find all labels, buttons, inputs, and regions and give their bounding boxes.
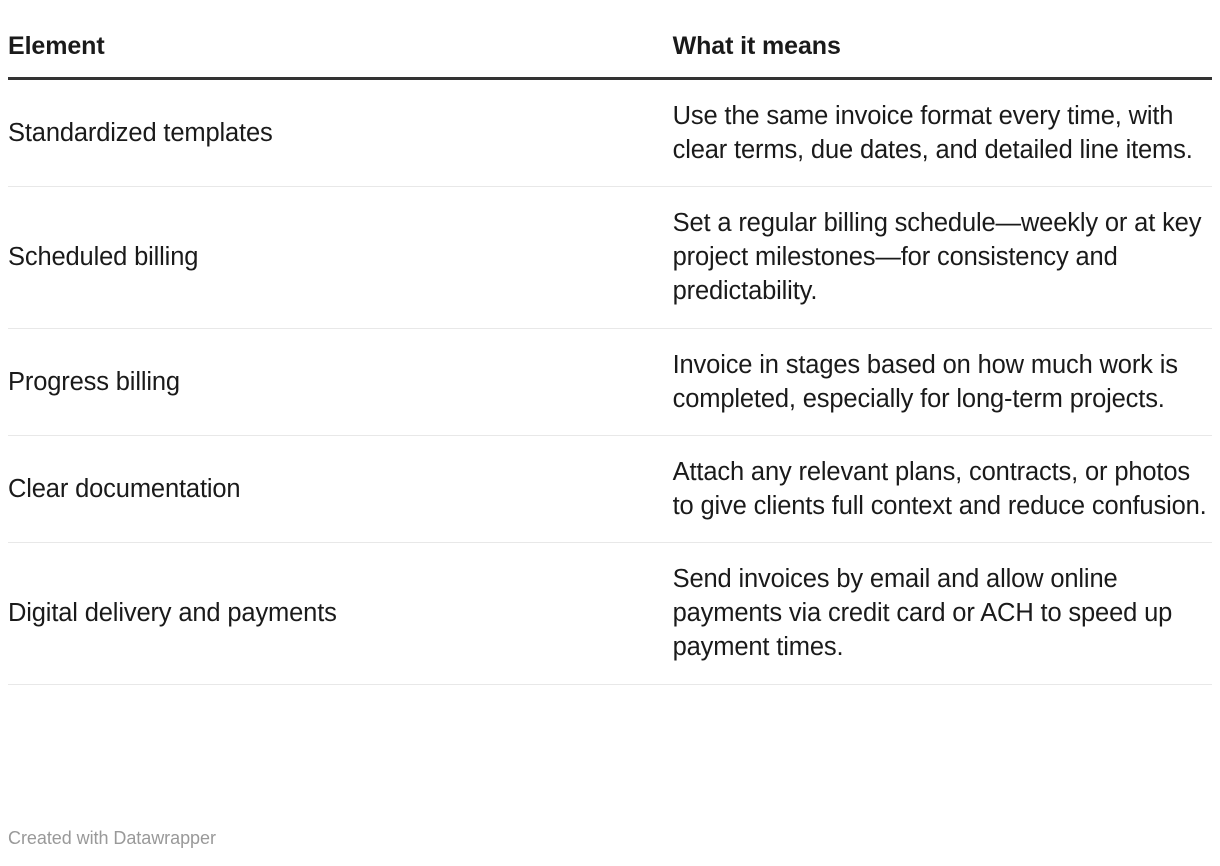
cell-meaning: Attach any relevant plans, contracts, or… bbox=[673, 435, 1212, 542]
table-body: Standardized templates Use the same invo… bbox=[8, 78, 1212, 684]
cell-meaning: Set a regular billing schedule—weekly or… bbox=[673, 187, 1212, 328]
cell-meaning: Use the same invoice format every time, … bbox=[673, 78, 1212, 186]
cell-meaning: Send invoices by email and allow online … bbox=[673, 543, 1212, 684]
cell-element: Progress billing bbox=[8, 328, 673, 435]
table-header-row: Element What it means bbox=[8, 0, 1212, 78]
cell-element: Digital delivery and payments bbox=[8, 543, 673, 684]
datawrapper-table-chart: Element What it means Standardized templ… bbox=[0, 0, 1220, 866]
table-row: Digital delivery and payments Send invoi… bbox=[8, 543, 1212, 684]
column-header-element[interactable]: Element bbox=[8, 0, 673, 78]
datawrapper-credit[interactable]: Created with Datawrapper bbox=[8, 828, 216, 850]
cell-element: Scheduled billing bbox=[8, 187, 673, 328]
table-row: Progress billing Invoice in stages based… bbox=[8, 328, 1212, 435]
cell-element: Clear documentation bbox=[8, 435, 673, 542]
table-row: Clear documentation Attach any relevant … bbox=[8, 435, 1212, 542]
table-row: Standardized templates Use the same invo… bbox=[8, 78, 1212, 186]
cell-meaning: Invoice in stages based on how much work… bbox=[673, 328, 1212, 435]
cell-element: Standardized templates bbox=[8, 78, 673, 186]
data-table: Element What it means Standardized templ… bbox=[8, 0, 1212, 685]
column-header-meaning[interactable]: What it means bbox=[673, 0, 1212, 78]
table-row: Scheduled billing Set a regular billing … bbox=[8, 187, 1212, 328]
table-header: Element What it means bbox=[8, 0, 1212, 78]
